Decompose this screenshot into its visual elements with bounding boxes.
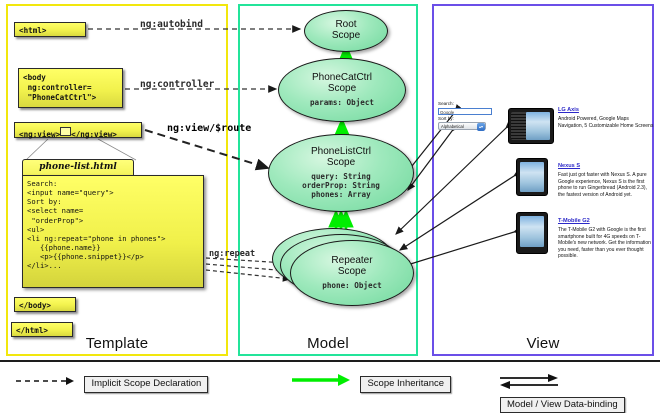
partial-code: Search: <input name="query"> Sort by: <s… xyxy=(22,175,204,288)
scope-repeater: Repeater Scope phone: Object xyxy=(290,240,414,306)
phone-link-2[interactable]: Nexus S xyxy=(558,163,580,169)
search-input[interactable]: Google xyxy=(438,108,492,115)
scope-repeater-title-line2: Scope xyxy=(338,267,366,278)
scope-phonelistctrl-title-line2: Scope xyxy=(327,158,355,169)
sort-label: Sort by: xyxy=(438,116,496,122)
view-search-panel: Search: Google Sort by: Alphabetical▴▾ xyxy=(438,101,496,130)
phone-snippet-1: Android Powered, Google Maps Navigation,… xyxy=(558,116,654,129)
phone-link-1[interactable]: LG Axis xyxy=(558,107,579,113)
chevron-updown-icon: ▴▾ xyxy=(477,123,485,131)
phone-keyboard-icon xyxy=(511,112,527,140)
code-box-ngview: <ng:view></ng:view> xyxy=(14,122,142,138)
scope-root-title-line2: Scope xyxy=(332,31,360,42)
connector-label-controller: ng:controller xyxy=(140,79,214,90)
search-label: Search: xyxy=(438,101,496,107)
phone-snippet-2: Fast just got faster with Nexus S. A pur… xyxy=(558,172,654,198)
code-box-html-open: <html> xyxy=(14,22,86,37)
legend-item-implicit: Implicit Scope Declaration xyxy=(16,373,208,393)
phone-screen-icon xyxy=(526,112,550,140)
scope-phonelistctrl: PhoneListCtrl Scope query: String orderP… xyxy=(268,134,414,212)
code-box-body-open: <body ng:controller= "PhoneCatCtrl"> xyxy=(18,68,123,108)
phone-snippet-3: The T-Mobile G2 with Google is the first… xyxy=(558,227,654,260)
column-label-model: Model xyxy=(240,335,416,352)
column-label-view: View xyxy=(434,335,652,352)
legend-label-databinding: Model / View Data-binding xyxy=(500,397,625,413)
legend-item-databinding: Model / View Data-binding xyxy=(500,373,660,413)
partial-filename: phone-list.html xyxy=(22,159,134,176)
dashed-arrow-icon xyxy=(16,373,74,391)
ngview-placeholder-icon xyxy=(60,127,71,136)
connector-label-route: ng:view/$route xyxy=(167,123,251,134)
connector-label-autobind: ng:autobind xyxy=(140,19,203,30)
code-box-html-close: </html> xyxy=(11,322,73,337)
scope-phonelistctrl-props: query: String orderProp: String phones: … xyxy=(302,172,380,199)
phone-thumbnail-3 xyxy=(516,212,548,254)
scope-phonecatctrl: PhoneCatCtrl Scope params: Object xyxy=(278,58,406,122)
connector-label-repeat: ng:repeat xyxy=(209,249,255,259)
legend: Implicit Scope Declaration Scope Inherit… xyxy=(0,360,660,407)
diagram-canvas: Template Model View xyxy=(0,0,660,405)
scope-phonecatctrl-title-line2: Scope xyxy=(328,84,356,95)
ngview-open-tag: <ng:view> xyxy=(19,130,60,139)
phone-link-3[interactable]: T-Mobile G2 xyxy=(558,218,590,224)
ngview-close-tag: </ng:view> xyxy=(71,130,117,139)
column-label-template: Template xyxy=(8,335,226,352)
phone-screen-icon xyxy=(520,216,544,247)
code-box-body-close: </body> xyxy=(14,297,76,312)
scope-root: Root Scope xyxy=(304,10,388,52)
scope-phonecatctrl-props: params: Object xyxy=(310,98,374,107)
legend-label-implicit: Implicit Scope Declaration xyxy=(84,376,208,392)
partial-file-callout: phone-list.html Search: <input name="que… xyxy=(22,159,204,289)
phone-thumbnail-2 xyxy=(516,158,548,196)
sort-select[interactable]: Alphabetical▴▾ xyxy=(438,122,486,130)
legend-item-inheritance: Scope Inheritance xyxy=(292,373,451,393)
phone-screen-icon xyxy=(520,162,544,192)
legend-label-inheritance: Scope Inheritance xyxy=(360,376,451,392)
green-arrow-icon xyxy=(292,373,350,391)
sort-select-value: Alphabetical xyxy=(441,124,464,129)
phone-thumbnail-1 xyxy=(508,108,554,144)
scope-repeater-props: phone: Object xyxy=(322,281,381,290)
double-arrow-icon xyxy=(500,373,558,394)
